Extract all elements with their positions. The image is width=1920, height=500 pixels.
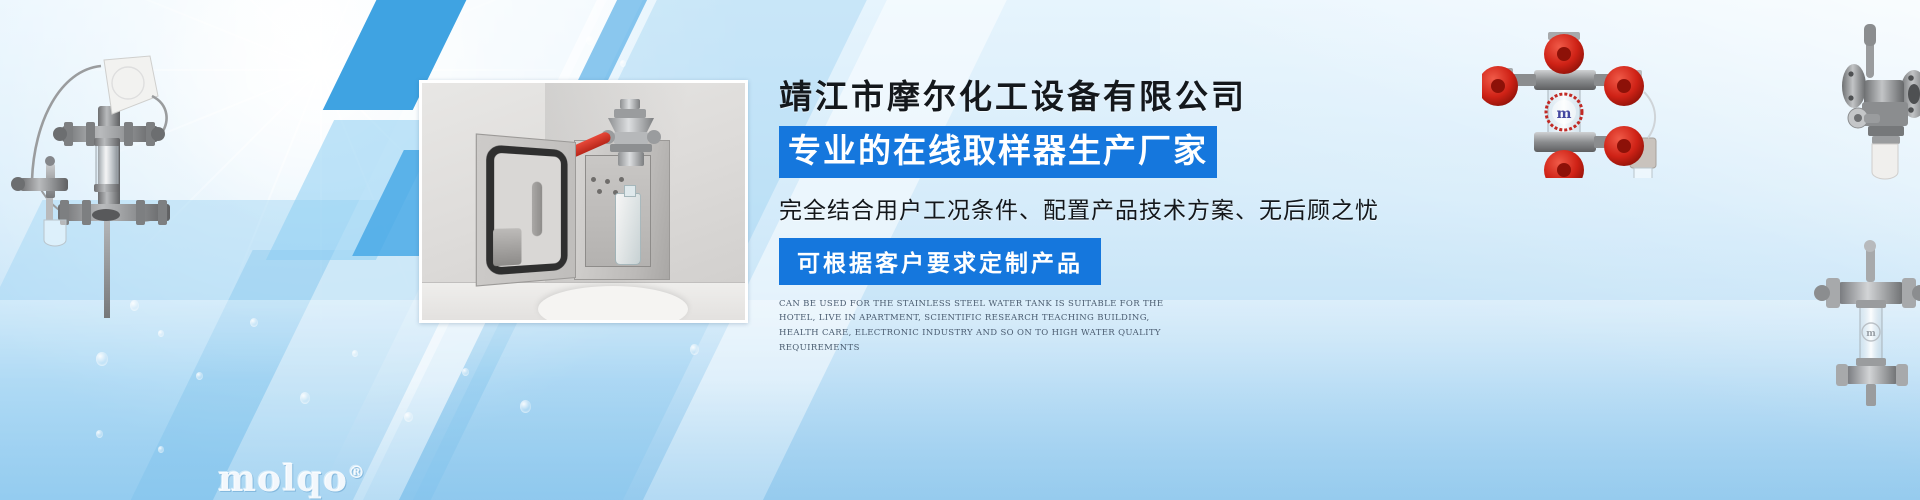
door-latch: [493, 228, 521, 266]
english-description: CAN BE USED FOR THE STAINLESS STEEL WATE…: [779, 297, 1179, 357]
company-name: 靖江市摩尔化工设备有限公司: [779, 76, 1389, 117]
water-droplet: [520, 400, 531, 413]
watermark-text: molqo: [218, 458, 348, 500]
water-droplet: [96, 352, 108, 366]
watermark-registered-mark: ®: [348, 463, 366, 483]
subheadline: 完全结合用户工况条件、配置产品技术方案、无后顾之忧: [779, 191, 1389, 225]
water-droplet: [462, 368, 469, 376]
water-droplet: [352, 350, 358, 357]
water-droplet: [96, 430, 103, 438]
water-droplet: [404, 412, 413, 422]
svg-text:m: m: [1866, 329, 1876, 339]
water-droplet: [586, 36, 594, 45]
promo-banner: m: [0, 0, 1920, 500]
right-equipment-lever-valve: [1842, 18, 1920, 198]
water-droplet: [158, 330, 164, 337]
left-equipment-image: [0, 18, 190, 318]
door-handle: [532, 181, 542, 236]
water-droplet: [300, 392, 310, 404]
right-equipment-cross-sampler: m: [1482, 28, 1692, 178]
water-droplet: [250, 318, 258, 327]
headline-highlight: 专业的在线取样器生产厂家: [779, 126, 1217, 177]
water-droplet: [620, 60, 626, 67]
product-photo-inner: [422, 83, 745, 320]
center-product-photo: [419, 80, 748, 323]
sample-bottle: [615, 193, 641, 265]
water-droplet: [196, 372, 203, 380]
cabinet-door: [476, 133, 576, 286]
right-equipment-inline-valve: m: [1812, 240, 1920, 440]
brand-watermark: molqo®: [218, 458, 366, 500]
tagline-badge: 可根据客户要求定制产品: [779, 238, 1101, 285]
water-droplet: [158, 446, 164, 453]
banner-text-block: 靖江市摩尔化工设备有限公司 专业的在线取样器生产厂家 完全结合用户工况条件、配置…: [779, 76, 1389, 356]
water-droplet: [690, 344, 699, 355]
svg-text:m: m: [1557, 106, 1572, 122]
